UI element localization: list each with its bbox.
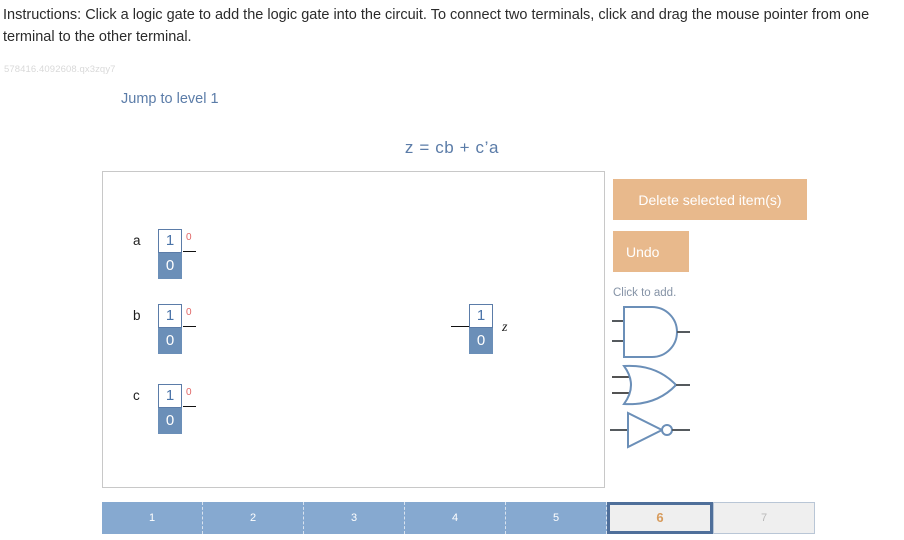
level-pagination[interactable]: 1 2 3 4 5 6 7 — [102, 502, 815, 534]
input-label-b: b — [133, 308, 141, 323]
gate-palette — [608, 300, 698, 450]
pagination-step-1[interactable]: 1 — [102, 502, 203, 534]
delete-selected-button[interactable]: Delete selected item(s) — [613, 179, 807, 220]
input-b-index: 0 — [186, 307, 192, 318]
output-z-bottom-value[interactable]: 0 — [469, 328, 493, 354]
input-a-output-wire[interactable] — [183, 251, 196, 252]
input-c-index: 0 — [186, 387, 192, 398]
input-b-bottom-value[interactable]: 0 — [158, 328, 182, 354]
pagination-step-4[interactable]: 4 — [405, 502, 506, 534]
pagination-step-2[interactable]: 2 — [203, 502, 304, 534]
output-z-input-wire[interactable] — [451, 326, 469, 327]
or-gate-icon[interactable] — [608, 362, 694, 410]
instructions-text: Instructions: Click a logic gate to add … — [3, 4, 889, 48]
input-a-bottom-value[interactable]: 0 — [158, 253, 182, 279]
input-c-output-wire[interactable] — [183, 406, 196, 407]
input-a-top-value[interactable]: 1 — [158, 229, 182, 253]
and-gate-icon[interactable] — [608, 303, 694, 361]
circuit-canvas[interactable]: a 1 0 0 b 1 0 0 c 1 0 0 1 0 z — [102, 171, 605, 488]
pagination-step-7[interactable]: 7 — [713, 502, 815, 534]
input-label-c: c — [133, 388, 140, 403]
pagination-step-6[interactable]: 6 — [607, 502, 713, 534]
input-label-a: a — [133, 233, 141, 248]
not-gate-icon[interactable] — [608, 410, 694, 450]
output-z-top-value[interactable]: 1 — [469, 304, 493, 328]
input-b-output-wire[interactable] — [183, 326, 196, 327]
input-c-bottom-value[interactable]: 0 — [158, 408, 182, 434]
click-to-add-label: Click to add. — [613, 287, 676, 299]
input-terminal-c[interactable]: c 1 0 0 — [158, 384, 182, 434]
input-b-top-value[interactable]: 1 — [158, 304, 182, 328]
input-terminal-b[interactable]: b 1 0 0 — [158, 304, 182, 354]
output-terminal-z[interactable]: 1 0 z — [469, 304, 493, 354]
target-equation: z = cb + c’a — [0, 138, 904, 158]
pagination-step-3[interactable]: 3 — [304, 502, 405, 534]
input-a-index: 0 — [186, 232, 192, 243]
input-terminal-a[interactable]: a 1 0 0 — [158, 229, 182, 279]
output-label-z: z — [502, 320, 507, 336]
pagination-step-5[interactable]: 5 — [506, 502, 607, 534]
jump-to-level-link[interactable]: Jump to level 1 — [121, 91, 219, 107]
input-c-top-value[interactable]: 1 — [158, 384, 182, 408]
activity-id-label: 578416.4092608.qx3zqy7 — [4, 64, 116, 75]
undo-button[interactable]: Undo — [613, 231, 689, 272]
